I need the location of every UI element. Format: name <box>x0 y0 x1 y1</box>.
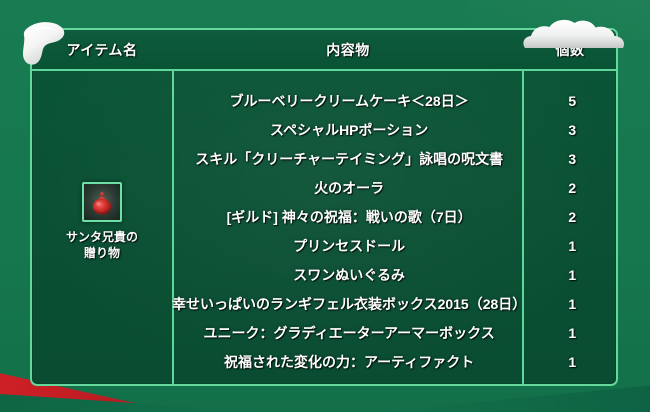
list-item: 祝福された変化の力：アーティファクト <box>172 348 526 377</box>
item-label-line1: サンタ兄貴の <box>66 229 138 245</box>
quantity-value: 5 <box>526 87 618 116</box>
header-item-name: アイテム名 <box>32 30 172 69</box>
table-body: サンタ兄貴の 贈り物 ブルーベリークリームケーキ＜28日＞ スペシャルHPポーシ… <box>32 71 616 384</box>
list-item: ブルーベリークリームケーキ＜28日＞ <box>172 87 526 116</box>
contents-cell: ブルーベリークリームケーキ＜28日＞ スペシャルHPポーション スキル「クリーチ… <box>172 71 526 384</box>
quantity-value: 1 <box>526 290 618 319</box>
quantity-cell: 5 3 3 2 2 1 1 1 1 1 <box>526 71 618 384</box>
list-item: スペシャルHPポーション <box>172 116 526 145</box>
list-item: [ギルド] 神々の祝福：戦いの歌（7日） <box>172 203 526 232</box>
item-cell[interactable]: サンタ兄貴の 贈り物 <box>32 71 172 384</box>
inventory-reward-panel: アイテム名 内容物 個数 <box>0 0 650 412</box>
red-gift-sack-icon[interactable] <box>82 182 122 222</box>
quantity-value: 2 <box>526 203 618 232</box>
item-label: サンタ兄貴の 贈り物 <box>66 229 138 261</box>
list-item: 火のオーラ <box>172 174 526 203</box>
item-label-line2: 贈り物 <box>66 245 138 261</box>
quantity-value: 1 <box>526 348 618 377</box>
list-item: プリンセスドール <box>172 232 526 261</box>
quantity-value: 1 <box>526 232 618 261</box>
table-header-row: アイテム名 内容物 個数 <box>32 30 616 69</box>
header-contents: 内容物 <box>172 30 524 69</box>
quantity-value: 3 <box>526 145 618 174</box>
list-item: 幸せいっぱいのランギフェル衣装ボックス2015（28日） <box>172 290 526 319</box>
quantity-value: 2 <box>526 174 618 203</box>
quantity-value: 3 <box>526 116 618 145</box>
reward-table: アイテム名 内容物 個数 <box>30 28 618 386</box>
list-item: スワンぬいぐるみ <box>172 261 526 290</box>
header-divider <box>32 69 616 71</box>
quantity-value: 1 <box>526 319 618 348</box>
header-quantity: 個数 <box>524 30 616 69</box>
list-item: ユニーク：グラディエーターアーマーボックス <box>172 319 526 348</box>
quantity-value: 1 <box>526 261 618 290</box>
list-item: スキル「クリーチャーテイミング」詠唱の呪文書 <box>172 145 526 174</box>
